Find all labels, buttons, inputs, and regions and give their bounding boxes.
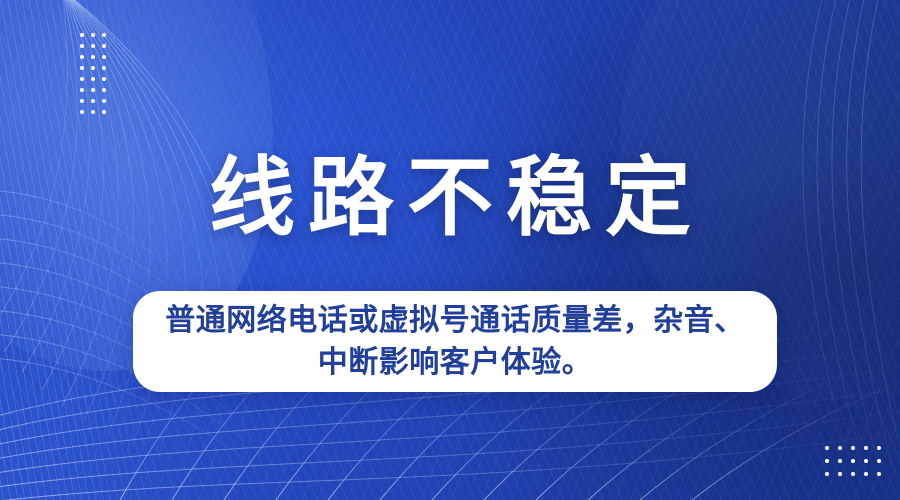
dot bbox=[91, 44, 95, 48]
dot bbox=[864, 459, 868, 463]
dot bbox=[80, 88, 84, 92]
dot bbox=[91, 33, 95, 37]
dot bbox=[91, 55, 95, 59]
dot bbox=[80, 66, 84, 70]
dot bbox=[80, 110, 84, 114]
dot bbox=[80, 99, 84, 103]
dot bbox=[825, 446, 829, 450]
dot bbox=[877, 459, 881, 463]
dot bbox=[838, 446, 842, 450]
dot bbox=[80, 77, 84, 81]
dot bbox=[91, 99, 95, 103]
dot bbox=[91, 66, 95, 70]
dot bbox=[838, 459, 842, 463]
background-vignette bbox=[0, 0, 900, 500]
dot bbox=[877, 472, 881, 476]
dot bbox=[864, 446, 868, 450]
dot-grid-icon-bottom-right bbox=[825, 446, 890, 485]
dot bbox=[102, 55, 106, 59]
dot bbox=[825, 459, 829, 463]
dot bbox=[877, 446, 881, 450]
dot bbox=[825, 472, 829, 476]
dot bbox=[80, 33, 84, 37]
dot bbox=[91, 77, 95, 81]
dot bbox=[102, 99, 106, 103]
promo-banner: 线路不稳定 普通网络电话或虚拟号通话质量差，杂音、中断影响客户体验。 bbox=[0, 0, 900, 500]
page-title: 线路不稳定 bbox=[0, 146, 900, 250]
dot bbox=[102, 110, 106, 114]
dot bbox=[102, 66, 106, 70]
dot bbox=[851, 446, 855, 450]
subtitle-card: 普通网络电话或虚拟号通话质量差，杂音、中断影响客户体验。 bbox=[133, 291, 777, 392]
dot bbox=[91, 88, 95, 92]
dot bbox=[851, 459, 855, 463]
dot bbox=[80, 44, 84, 48]
dot bbox=[80, 55, 84, 59]
subtitle-text: 普通网络电话或虚拟号通话质量差，杂音、中断影响客户体验。 bbox=[155, 300, 755, 384]
dot bbox=[864, 472, 868, 476]
dot bbox=[102, 44, 106, 48]
dot bbox=[102, 77, 106, 81]
dot bbox=[91, 110, 95, 114]
dot bbox=[102, 88, 106, 92]
dot bbox=[851, 472, 855, 476]
dot bbox=[102, 33, 106, 37]
dot bbox=[838, 472, 842, 476]
dot-grid-icon-top-left bbox=[80, 33, 113, 121]
